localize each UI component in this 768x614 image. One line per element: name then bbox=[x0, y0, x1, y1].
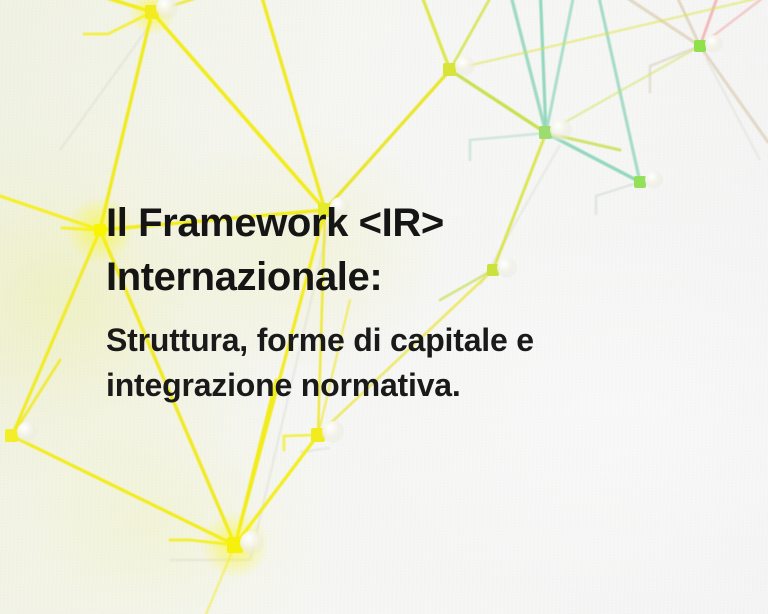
page-subtitle: Struttura, forme di capitale e integrazi… bbox=[106, 318, 666, 408]
text-block: Il Framework <IR> Internazionale: Strutt… bbox=[106, 196, 666, 408]
slide-canvas: Il Framework <IR> Internazionale: Strutt… bbox=[0, 0, 768, 614]
page-title: Il Framework <IR> Internazionale: bbox=[106, 196, 666, 304]
